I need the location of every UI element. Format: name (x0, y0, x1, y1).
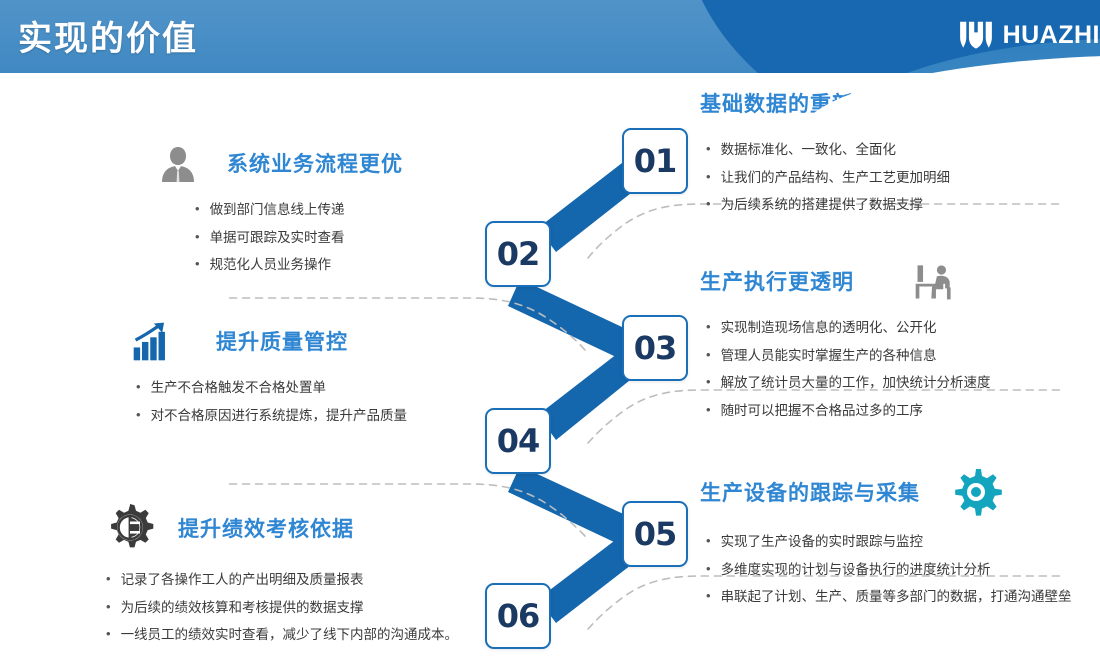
list-item: •串联起了计划、生产、质量等多部门的数据，打通沟通壁垒 (706, 583, 1072, 611)
block-header: 提升质量管控 (130, 318, 407, 364)
content-block-quality-control: 提升质量管控 •生产不合格触发不合格处置单 •对不合格原因进行系统提炼，提升产品… (130, 318, 407, 429)
bullet-text: 为后续的绩效核算和考核提供的数据支撑 (121, 594, 364, 622)
content-block-production-execution: 生产执行更透明 •实现制造现场信息的透明化、公开化 •管理人员能实时掌握生产的各… (700, 258, 991, 425)
block-header: 系统业务流程更优 (155, 140, 403, 186)
list-item: •生产不合格触发不合格处置单 (136, 374, 407, 402)
brand-logo-text: HUAZHI (1003, 21, 1100, 50)
bullet-text: 规范化人员业务操作 (210, 251, 332, 279)
slide-canvas: 实现的价值 HUAZHI (0, 0, 1100, 659)
bullet-text: 一线员工的绩效实时查看，减少了线下内部的沟通成本。 (121, 621, 459, 649)
list-item: •管理人员能实时掌握生产的各种信息 (706, 342, 991, 370)
block-title: 提升质量管控 (216, 326, 348, 356)
bullet-text: 让我们的产品结构、生产工艺更加明细 (721, 164, 951, 192)
bullet-text: 记录了各操作工人的产出明细及质量报表 (121, 566, 364, 594)
step-number-label: 03 (634, 329, 677, 367)
block-header: 提升绩效考核依据 (100, 500, 458, 556)
bullet-marker: • (706, 164, 711, 191)
content-block-performance-appraisal: 提升绩效考核依据 •记录了各操作工人的产出明细及质量报表 •为后续的绩效核算和考… (100, 500, 458, 649)
block-title: 生产执行更透明 (700, 266, 854, 296)
block-bullet-list: •数据标准化、一致化、全面化 •让我们的产品结构、生产工艺更加明细 •为后续系统… (706, 136, 1000, 219)
bullet-marker: • (136, 374, 141, 401)
dashed-connector-01b (590, 208, 690, 258)
step-number-label: 05 (634, 515, 677, 553)
list-item: •多维度实现的计划与设备执行的进度统计分析 (706, 556, 1072, 584)
block-bullet-list: •记录了各操作工人的产出明细及质量报表 •为后续的绩效核算和考核提供的数据支撑 … (106, 566, 458, 649)
step-number-box-04[interactable]: 04 (485, 408, 551, 474)
bullet-marker: • (195, 224, 200, 251)
bullet-text: 实现制造现场信息的透明化、公开化 (721, 314, 937, 342)
list-item: •单据可跟踪及实时查看 (195, 224, 403, 252)
brand-logo: HUAZHI (958, 20, 1100, 50)
bullet-text: 管理人员能实时掌握生产的各种信息 (721, 342, 937, 370)
list-item: •数据标准化、一致化、全面化 (706, 136, 1000, 164)
list-item: •实现制造现场信息的透明化、公开化 (706, 314, 991, 342)
bar-chart-growth-icon (130, 318, 176, 364)
step-number-box-06[interactable]: 06 (485, 583, 551, 649)
block-title: 生产设备的跟踪与采集 (700, 477, 920, 507)
bullet-text: 多维度实现的计划与设备执行的进度统计分析 (721, 556, 991, 584)
content-block-equipment-tracking: 生产设备的跟踪与采集 •实现了生产设备的实时跟踪与监控 •多维度实现的计划与设备… (700, 466, 1072, 611)
bullet-text: 随时可以把握不合格品过多的工序 (721, 397, 924, 425)
step-number-box-01[interactable]: 01 (622, 128, 688, 194)
list-item: •对不合格原因进行系统提炼，提升产品质量 (136, 402, 407, 430)
step-number-label: 02 (497, 235, 540, 273)
bullet-marker: • (106, 621, 111, 648)
person-avatar-icon (155, 140, 201, 186)
bullet-marker: • (706, 397, 711, 424)
step-number-box-05[interactable]: 05 (622, 501, 688, 567)
bullet-marker: • (706, 369, 711, 396)
bullet-marker: • (706, 191, 711, 218)
list-item: •让我们的产品结构、生产工艺更加明细 (706, 164, 1000, 192)
gear-teal-icon (948, 466, 1004, 518)
bullet-marker: • (106, 594, 111, 621)
page-title: 实现的价值 (18, 11, 198, 60)
step-number-box-02[interactable]: 02 (485, 221, 551, 287)
bullet-marker: • (706, 342, 711, 369)
bullet-text: 数据标准化、一致化、全面化 (721, 136, 897, 164)
bullet-marker: • (706, 314, 711, 341)
bullet-text: 串联起了计划、生产、质量等多部门的数据，打通沟通壁垒 (721, 583, 1072, 611)
bullet-text: 解放了统计员大量的工作，加快统计分析速度 (721, 369, 991, 397)
bullet-text: 单据可跟踪及实时查看 (210, 224, 345, 252)
list-item: •实现了生产设备的实时跟踪与监控 (706, 528, 1072, 556)
gear-performance-icon (100, 500, 160, 556)
list-item: •解放了统计员大量的工作，加快统计分析速度 (706, 369, 991, 397)
list-item: •一线员工的绩效实时查看，减少了线下内部的沟通成本。 (106, 621, 458, 649)
block-bullet-list: •实现了生产设备的实时跟踪与监控 •多维度实现的计划与设备执行的进度统计分析 •… (706, 528, 1072, 611)
bullet-marker: • (106, 566, 111, 593)
bullet-text: 对不合格原因进行系统提炼，提升产品质量 (151, 402, 408, 430)
block-header: 生产设备的跟踪与采集 (700, 466, 1072, 518)
slide-header: 实现的价值 HUAZHI (0, 0, 1100, 73)
list-item: •为后续系统的搭建提供了数据支撑 (706, 191, 1000, 219)
list-item: •随时可以把握不合格品过多的工序 (706, 397, 991, 425)
bullet-text: 做到部门信息线上传递 (210, 196, 345, 224)
step-number-label: 01 (634, 142, 677, 180)
block-bullet-list: •做到部门信息线上传递 •单据可跟踪及实时查看 •规范化人员业务操作 (195, 196, 403, 279)
bullet-text: 实现了生产设备的实时跟踪与监控 (721, 528, 924, 556)
block-title: 系统业务流程更优 (227, 148, 403, 178)
list-item: •做到部门信息线上传递 (195, 196, 403, 224)
step-number-label: 04 (497, 422, 540, 460)
step-number-label: 06 (497, 597, 540, 635)
step-number-box-03[interactable]: 03 (622, 315, 688, 381)
person-at-desk-icon (912, 258, 958, 304)
list-item: •规范化人员业务操作 (195, 251, 403, 279)
bullet-text: 为后续系统的搭建提供了数据支撑 (721, 191, 924, 219)
block-header: 生产执行更透明 (700, 258, 991, 304)
bullet-text: 生产不合格触发不合格处置单 (151, 374, 327, 402)
bullet-marker: • (706, 136, 711, 163)
block-title: 提升绩效考核依据 (178, 513, 354, 543)
list-item: •为后续的绩效核算和考核提供的数据支撑 (106, 594, 458, 622)
bullet-marker: • (706, 528, 711, 555)
list-item: •记录了各操作工人的产出明细及质量报表 (106, 566, 458, 594)
content-block-business-process: 系统业务流程更优 •做到部门信息线上传递 •单据可跟踪及实时查看 •规范化人员业… (155, 140, 403, 279)
block-bullet-list: •实现制造现场信息的透明化、公开化 •管理人员能实时掌握生产的各种信息 •解放了… (706, 314, 991, 425)
huazhi-crest-icon (958, 20, 994, 50)
bullet-marker: • (195, 251, 200, 278)
bullet-marker: • (136, 402, 141, 429)
block-bullet-list: •生产不合格触发不合格处置单 •对不合格原因进行系统提炼，提升产品质量 (136, 374, 407, 429)
bullet-marker: • (706, 556, 711, 583)
bullet-marker: • (706, 583, 711, 610)
bullet-marker: • (195, 196, 200, 223)
